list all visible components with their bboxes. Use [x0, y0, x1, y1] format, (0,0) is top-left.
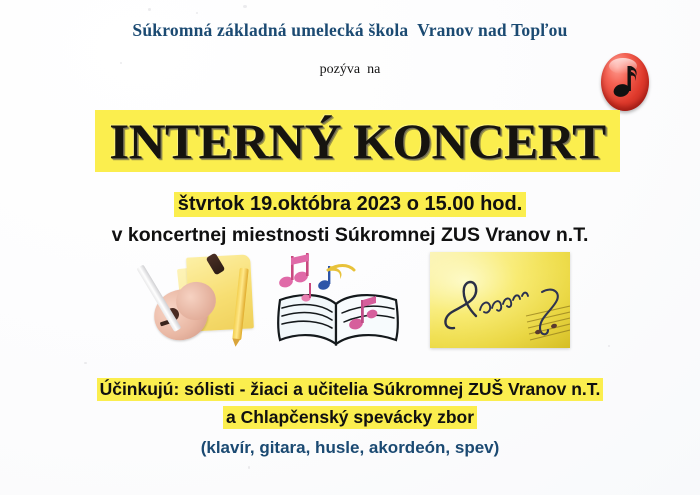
instruments-line: (klavír, gitara, husle, akordeón, spev)	[0, 438, 700, 458]
guitar-with-notebook-clipart	[150, 252, 262, 348]
performers-line-2: a Chlapčenský spevácky zbor	[223, 406, 477, 429]
music-note-badge	[601, 53, 649, 111]
invite-line: pozýva na	[0, 62, 700, 78]
event-date: štvrtok 19.októbra 2023 o 15.00 hod.	[174, 192, 527, 217]
poster-canvas: Súkromná základná umelecká škola Vranov …	[0, 0, 700, 495]
event-venue: v koncertnej miestnosti Súkromnej ZUS Vr…	[0, 224, 700, 247]
school-header: Súkromná základná umelecká škola Vranov …	[0, 20, 700, 41]
page-title: INTERNÝ KONCERT	[90, 110, 626, 172]
date-row: štvrtok 19.októbra 2023 o 15.00 hod.	[0, 192, 700, 217]
performers-row-2: a Chlapčenský spevácky zbor	[0, 406, 700, 429]
performers-line-1: Účinkujú: sólisti - žiaci a učitelia Súk…	[97, 378, 604, 401]
sonata-sheet-music-photo	[430, 252, 570, 348]
performers-row-1: Účinkujú: sólisti - žiaci a učitelia Súk…	[0, 378, 700, 401]
eighth-note-icon	[613, 63, 639, 99]
open-book-with-notes-clipart	[268, 252, 408, 350]
